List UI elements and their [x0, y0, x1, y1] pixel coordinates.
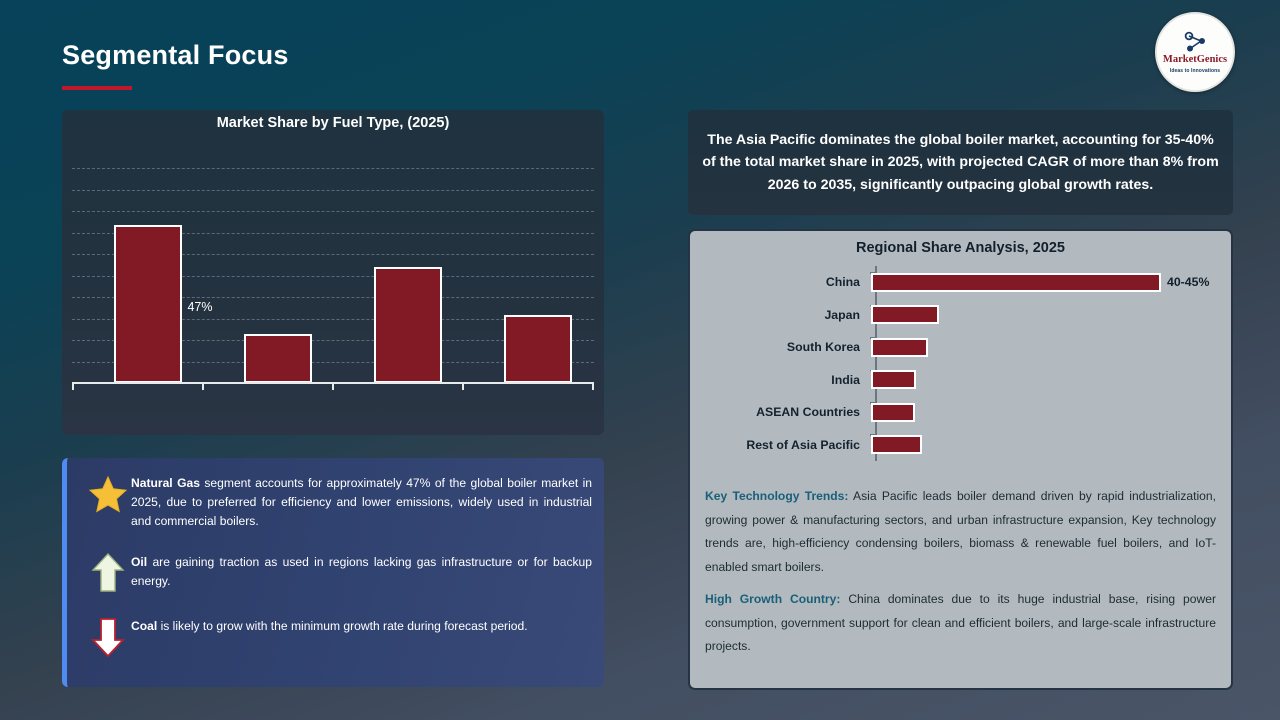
arrow-down-icon [85, 615, 131, 659]
page-title: Segmental Focus [62, 40, 289, 71]
region-bar-india[interactable] [871, 370, 916, 389]
region-label-japan: Japan [706, 308, 871, 322]
logo-tagline: Ideas to Innovations [1170, 68, 1220, 74]
region-row-china: China 40-45% [706, 266, 1219, 299]
network-nodes-icon [1180, 30, 1210, 54]
region-label-asean: ASEAN Countries [706, 405, 871, 419]
region-row-india: India [706, 364, 1219, 397]
insight-body-natural-gas: segment accounts for approximately 47% o… [131, 476, 592, 528]
insight-text-oil: Oil are gaining traction as used in regi… [131, 551, 592, 591]
region-value-china: 40-45% [1167, 275, 1209, 289]
fuel-insights-panel: Natural Gas segment accounts for approxi… [62, 458, 604, 687]
insight-body-oil: are gaining traction as used in regions … [131, 555, 592, 588]
axis-tick [202, 382, 204, 390]
fuel-chart-plot-area [72, 168, 594, 383]
bar-value-natural-gas: 47% [187, 300, 212, 314]
region-chart-title: Regional Share Analysis, 2025 [702, 240, 1219, 256]
asia-pacific-callout: The Asia Pacific dominates the global bo… [688, 110, 1233, 215]
region-row-south-korea: South Korea [706, 331, 1219, 364]
insight-body-coal: is likely to grow with the minimum growt… [157, 619, 527, 633]
star-icon [85, 472, 131, 516]
title-underline [62, 86, 132, 90]
bar-others[interactable] [504, 315, 572, 383]
region-bar-china[interactable] [871, 273, 1161, 292]
insight-item-oil: Oil are gaining traction as used in regi… [85, 551, 592, 595]
region-row-rest-of-asia-pacific: Rest of Asia Pacific [706, 429, 1219, 462]
insight-text-natural-gas: Natural Gas segment accounts for approxi… [131, 472, 592, 531]
region-bar-south-korea[interactable] [871, 338, 928, 357]
region-bar-japan[interactable] [871, 305, 939, 324]
bar-oil[interactable] [374, 267, 442, 383]
region-chart-plot-area: China 40-45% Japan South Korea India ASE… [706, 266, 1219, 461]
bar-coal[interactable] [244, 334, 312, 383]
axis-tick [332, 382, 334, 390]
regional-share-panel: Regional Share Analysis, 2025 China 40-4… [688, 229, 1233, 690]
note-lead-high-growth-country: High Growth Country: [705, 592, 840, 606]
region-label-china: China [706, 275, 871, 289]
bar-natural-gas[interactable] [114, 225, 182, 383]
region-label-south-korea: South Korea [706, 340, 871, 354]
fuel-bars [72, 168, 594, 383]
brand-logo: MarketGenics Ideas to Innovations [1155, 12, 1235, 92]
region-row-asean: ASEAN Countries [706, 396, 1219, 429]
fuel-share-chart-panel: Market Share by Fuel Type, (2025) 47% Na… [62, 110, 604, 435]
axis-tick [462, 382, 464, 390]
region-label-rest-of-asia-pacific: Rest of Asia Pacific [706, 438, 871, 452]
note-high-growth-country: High Growth Country: China dominates due… [705, 588, 1216, 659]
region-notes: Key Technology Trends: Asia Pacific lead… [702, 485, 1219, 659]
axis-tick [592, 382, 594, 390]
note-lead-key-technology-trends: Key Technology Trends: [705, 489, 848, 503]
insight-lead-natural-gas: Natural Gas [131, 476, 200, 490]
arrow-up-icon [85, 551, 131, 595]
logo-name: MarketGenics [1163, 55, 1227, 66]
fuel-chart-title: Market Share by Fuel Type, (2025) [62, 110, 604, 131]
callout-text: The Asia Pacific dominates the global bo… [702, 129, 1219, 196]
region-row-japan: Japan [706, 299, 1219, 332]
axis-tick [72, 382, 74, 390]
region-bar-rest-of-asia-pacific[interactable] [871, 435, 922, 454]
insight-lead-coal: Coal [131, 619, 157, 633]
region-label-india: India [706, 373, 871, 387]
insight-lead-oil: Oil [131, 555, 147, 569]
insight-text-coal: Coal is likely to grow with the minimum … [131, 615, 528, 636]
insight-item-natural-gas: Natural Gas segment accounts for approxi… [85, 472, 592, 531]
note-key-technology-trends: Key Technology Trends: Asia Pacific lead… [705, 485, 1216, 579]
insight-item-coal: Coal is likely to grow with the minimum … [85, 615, 592, 659]
region-bar-asean[interactable] [871, 403, 915, 422]
